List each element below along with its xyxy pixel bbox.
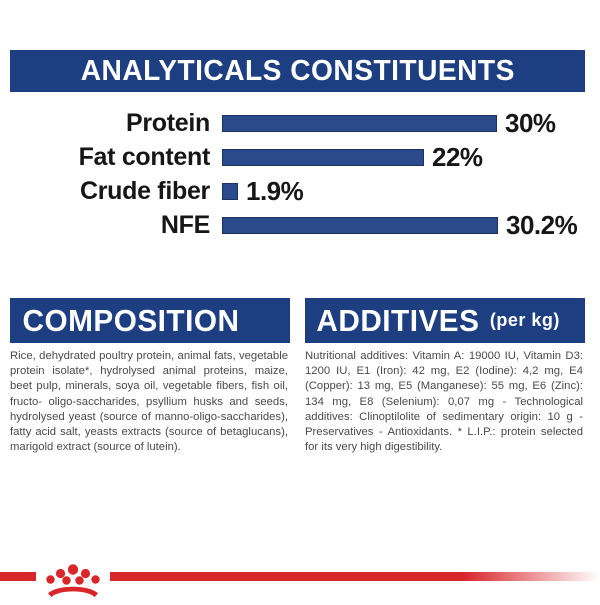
bar-value-protein: 30% (505, 108, 556, 139)
chart-row: Fat content 22% (10, 140, 585, 174)
bar-value-fat-content: 22% (432, 142, 483, 173)
chart-label-protein: Protein (10, 109, 210, 138)
chart-label-fat-content: Fat content (10, 143, 210, 172)
analyticals-header: ANALYTICALS CONSTITUENTS (10, 50, 585, 92)
bar-value-nfe: 30.2% (506, 210, 577, 241)
analyticals-bar-chart: Protein 30% Fat content 22% Crude fiber … (10, 106, 585, 242)
chart-row: Protein 30% (10, 106, 585, 140)
additives-header: ADDITIVES (per kg) (305, 298, 585, 343)
composition-body: Rice, dehydrated poultry protein, animal… (10, 349, 290, 455)
chart-row: Crude fiber 1.9% (10, 174, 585, 208)
bottom-panels: COMPOSITION Rice, dehydrated poultry pro… (10, 298, 585, 455)
footer-rule-left (0, 572, 36, 581)
chart-row: NFE 30.2% (10, 208, 585, 242)
additives-body: Nutritional additives: Vitamin A: 19000 … (305, 349, 585, 455)
bar-protein (222, 115, 497, 132)
bar-nfe (222, 217, 498, 234)
analyticals-constituents-panel: ANALYTICALS CONSTITUENTS Protein 30% Fat… (10, 50, 585, 242)
additives-subtitle: (per kg) (490, 310, 560, 331)
chart-label-nfe: NFE (10, 211, 210, 240)
composition-panel: COMPOSITION Rice, dehydrated poultry pro… (10, 298, 290, 455)
royal-canin-crown-icon (42, 560, 104, 600)
bar-zone: 1.9% (210, 176, 585, 207)
composition-header: COMPOSITION (10, 298, 290, 343)
bar-fat-content (222, 149, 424, 166)
bar-zone: 30% (210, 108, 585, 139)
composition-title: COMPOSITION (23, 303, 240, 339)
additives-title: ADDITIVES (316, 303, 479, 339)
bar-value-crude-fiber: 1.9% (246, 176, 303, 207)
additives-panel: ADDITIVES (per kg) Nutritional additives… (305, 298, 585, 455)
bar-crude-fiber (222, 183, 238, 200)
chart-label-crude-fiber: Crude fiber (10, 177, 210, 206)
bar-zone: 22% (210, 142, 585, 173)
footer (0, 560, 600, 600)
footer-rule-right (110, 572, 600, 581)
bar-zone: 30.2% (210, 210, 585, 241)
analyticals-title: ANALYTICALS CONSTITUENTS (80, 55, 514, 88)
